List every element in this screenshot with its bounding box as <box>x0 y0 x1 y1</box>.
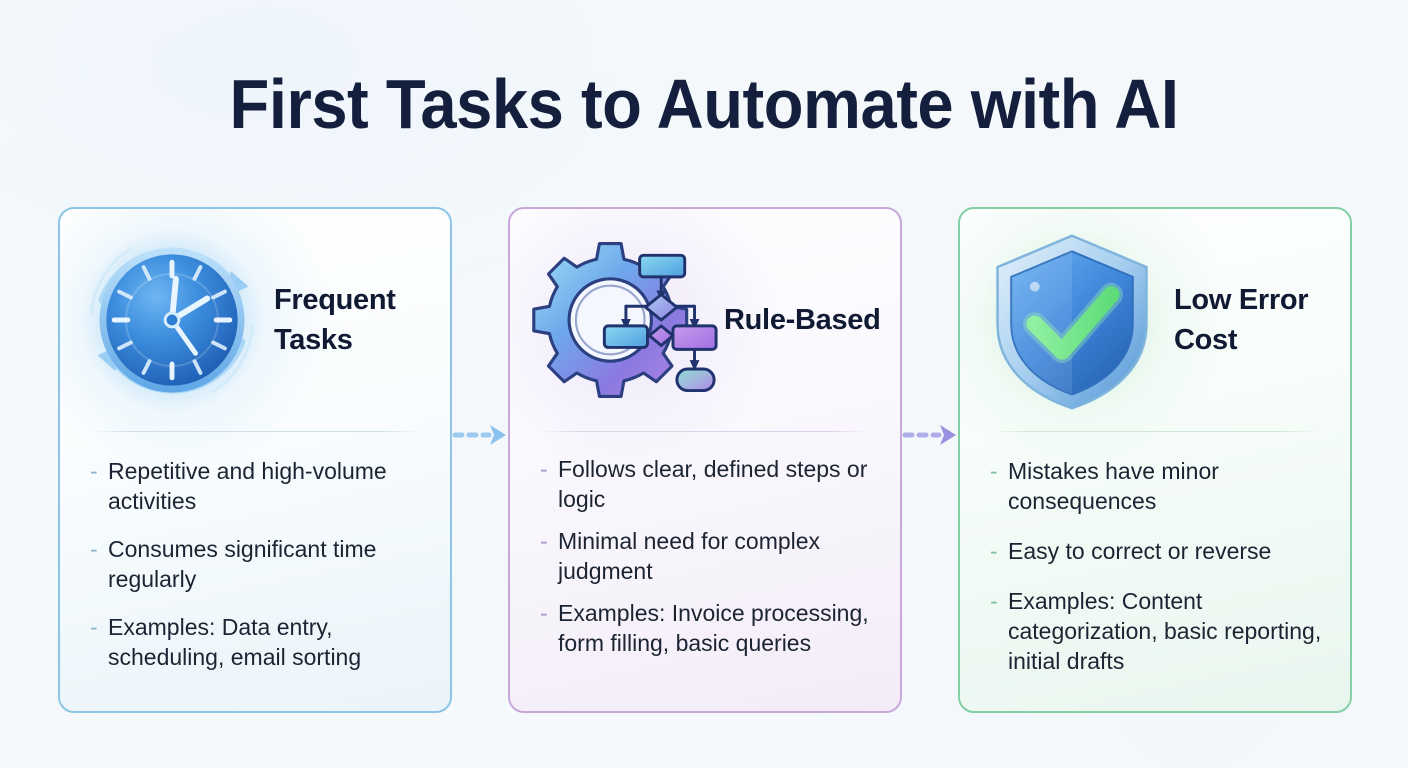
bullet-text: Mistakes have minor consequences <box>1008 456 1324 516</box>
bullet-dash: - <box>90 456 108 486</box>
bullet-text: Easy to correct or reverse <box>1008 536 1324 566</box>
list-item: - Examples: Invoice processing, form fil… <box>540 598 874 658</box>
card-header: Low Error Cost <box>960 209 1350 431</box>
infographic-page: First Tasks to Automate with AI <box>0 0 1408 768</box>
list-item: - Follows clear, defined steps or logic <box>540 454 874 514</box>
shield-check-icon <box>974 222 1170 418</box>
bullet-text: Consumes significant time regularly <box>108 534 424 594</box>
card-bullet-list: - Repetitive and high-volume activities … <box>60 432 450 672</box>
bullet-text: Examples: Invoice processing, form filli… <box>558 598 874 658</box>
bullet-dash: - <box>540 454 558 484</box>
list-item: - Consumes significant time regularly <box>90 534 424 594</box>
bullet-dash: - <box>990 536 1008 566</box>
bullet-dash: - <box>990 456 1008 486</box>
list-item: - Repetitive and high-volume activities <box>90 456 424 516</box>
page-title: First Tasks to Automate with AI <box>49 62 1358 146</box>
card-header: Frequent Tasks <box>60 209 450 431</box>
card-title: Low Error Cost <box>1174 280 1332 360</box>
card-bullet-list: - Mistakes have minor consequences - Eas… <box>960 432 1350 676</box>
card-title: Frequent Tasks <box>274 280 432 360</box>
card-bullet-list: - Follows clear, defined steps or logic … <box>510 432 900 658</box>
card-low-error-cost[interactable]: Low Error Cost - Mistakes have minor con… <box>958 207 1352 713</box>
list-item: - Examples: Content categorization, basi… <box>990 586 1324 676</box>
arrow-card2-to-card3 <box>902 207 958 713</box>
bullet-text: Examples: Data entry, scheduling, email … <box>108 612 424 672</box>
list-item: - Mistakes have minor consequences <box>990 456 1324 516</box>
bullet-dash: - <box>990 586 1008 616</box>
gear-flowchart-icon <box>524 222 720 418</box>
bullet-text: Minimal need for complex judgment <box>558 526 874 586</box>
bullet-dash: - <box>90 534 108 564</box>
card-header: Rule-Based <box>510 209 900 431</box>
list-item: - Easy to correct or reverse <box>990 536 1324 566</box>
bullet-dash: - <box>90 612 108 642</box>
bullet-text: Examples: Content categorization, basic … <box>1008 586 1324 676</box>
card-rule-based[interactable]: Rule-Based - Follows clear, defined step… <box>508 207 902 713</box>
arrow-card1-to-card2 <box>452 207 508 713</box>
bullet-text: Follows clear, defined steps or logic <box>558 454 874 514</box>
clock-refresh-icon <box>74 222 270 418</box>
cards-row: Frequent Tasks - Repetitive and high-vol… <box>58 207 1350 713</box>
list-item: - Minimal need for complex judgment <box>540 526 874 586</box>
bullet-text: Repetitive and high-volume activities <box>108 456 424 516</box>
list-item: - Examples: Data entry, scheduling, emai… <box>90 612 424 672</box>
bullet-dash: - <box>540 526 558 556</box>
card-title: Rule-Based <box>724 300 882 340</box>
bullet-dash: - <box>540 598 558 628</box>
card-frequent-tasks[interactable]: Frequent Tasks - Repetitive and high-vol… <box>58 207 452 713</box>
